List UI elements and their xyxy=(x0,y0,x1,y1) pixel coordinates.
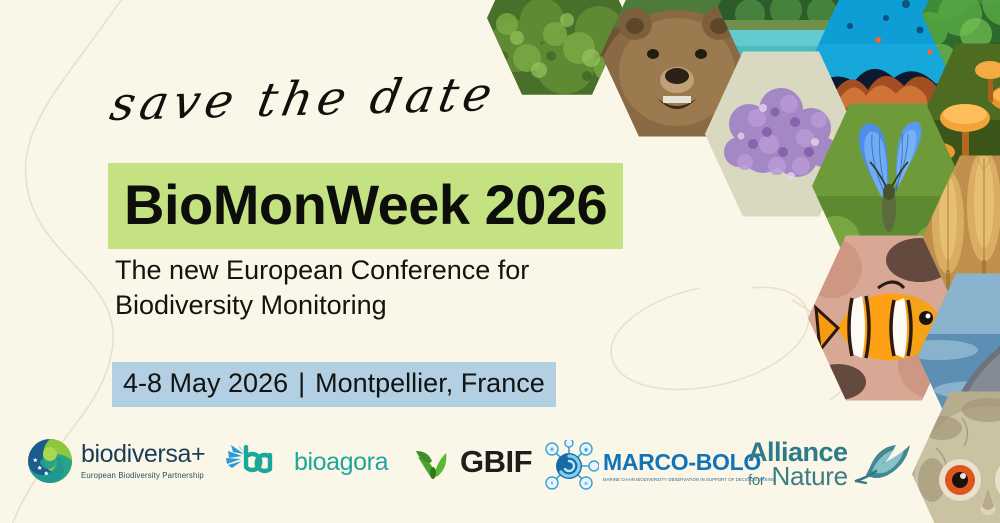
bioagora-wordmark: bioagora xyxy=(294,448,388,477)
logo-bioagora[interactable]: bioagora xyxy=(226,445,388,479)
biodiversa-wordmark: biodiversa+ xyxy=(81,442,205,467)
svg-text:◉: ◉ xyxy=(584,447,589,453)
ba-monogram-leaf-icon xyxy=(226,445,288,479)
svg-text:⚘: ⚘ xyxy=(550,481,554,487)
title-container: BioMonWeek 2026 xyxy=(108,163,623,249)
save-the-date-eyebrow: save the date xyxy=(106,67,501,132)
logo-alliance-for-nature[interactable]: Alliance for Nature xyxy=(748,440,912,489)
date-location-container: 4-8 May 2026|Montpellier, France xyxy=(112,362,556,407)
green-sprout-icon xyxy=(414,443,454,481)
biodiversa-wordmark-block: biodiversa+ European Biodiversity Partne… xyxy=(81,442,205,480)
subtitle: The new European Conference for Biodiver… xyxy=(115,253,529,322)
logo-marco-bolo[interactable]: ❋◉⚘≋ MARCO-BOLO MARINE CHAIN BIODIVERSIT… xyxy=(543,440,775,492)
poster: save the date BioMonWeek 2026 The new Eu… xyxy=(0,0,1000,523)
event-location: Montpellier, France xyxy=(315,368,545,398)
date-location-separator: | xyxy=(288,368,315,398)
alliance-wordmark-block: Alliance for Nature xyxy=(748,440,848,489)
logo-gbif[interactable]: GBIF xyxy=(414,443,532,481)
alliance-for-text: for xyxy=(748,472,765,489)
logo-biodiversa-plus[interactable]: biodiversa+ European Biodiversity Partne… xyxy=(27,438,205,484)
page-title: BioMonWeek 2026 xyxy=(108,163,623,249)
svg-text:❋: ❋ xyxy=(550,447,554,453)
molecule-network-icon: ❋◉⚘≋ xyxy=(543,440,599,492)
biodiversa-tagline: European Biodiversity Partnership xyxy=(81,471,205,480)
svg-text:≋: ≋ xyxy=(584,481,588,487)
alliance-wordmark-line2: for Nature xyxy=(748,465,848,489)
gbif-wordmark: GBIF xyxy=(460,444,532,480)
event-date: 4-8 May 2026 xyxy=(123,368,288,398)
date-location-badge: 4-8 May 2026|Montpellier, France xyxy=(112,362,556,407)
alliance-nature-text: Nature xyxy=(772,461,848,491)
globe-wave-stars-icon xyxy=(27,438,73,484)
partner-logo-bar: biodiversa+ European Biodiversity Partne… xyxy=(0,430,1000,502)
bird-icon xyxy=(852,441,912,487)
